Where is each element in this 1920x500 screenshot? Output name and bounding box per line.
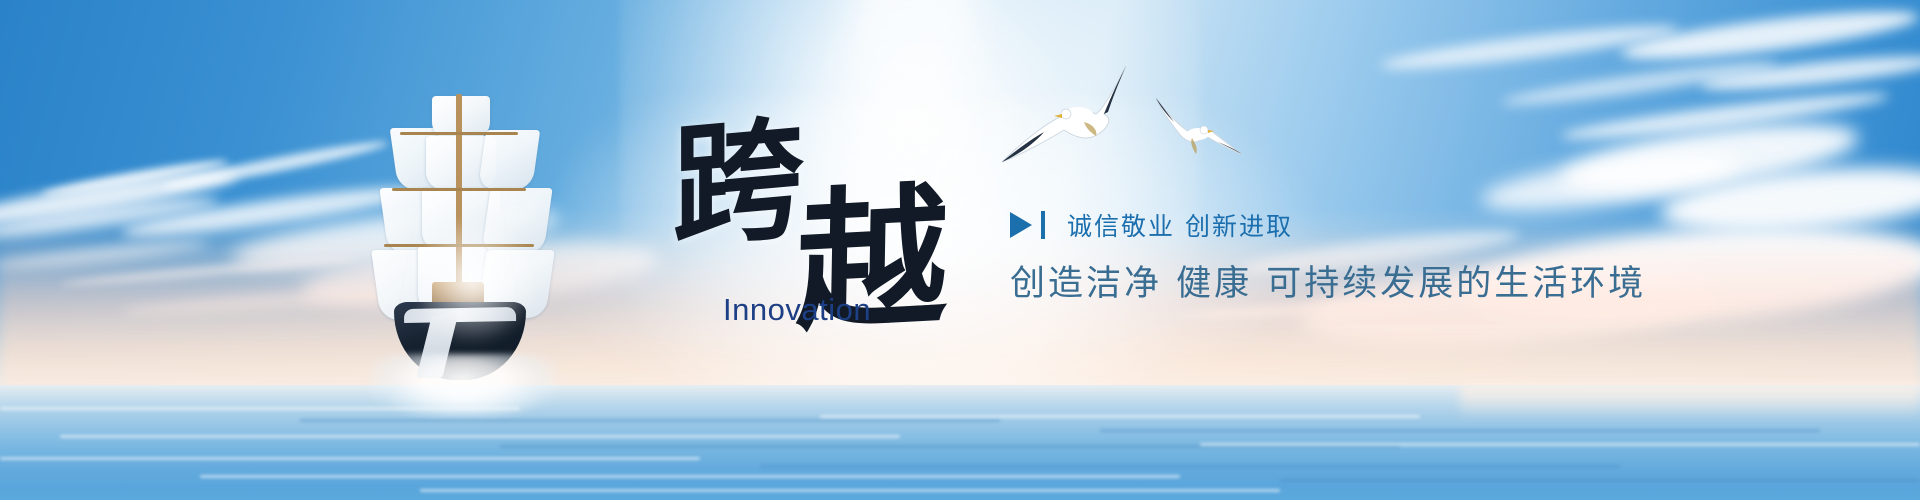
hero-banner: 跨 越 Innovation 诚信敬业 创新进取 创造洁净 健康 可持续发展的生…	[0, 0, 1920, 500]
slogan-line-1: 诚信敬业 创新进取	[1067, 207, 1293, 243]
slogan-row-primary: 诚信敬业 创新进取	[1010, 205, 1630, 245]
vertical-bar-divider	[1041, 211, 1045, 239]
calligraphy-char-kua: 跨	[672, 112, 803, 256]
ship-wake-reflection	[388, 384, 540, 418]
play-triangle-icon	[1010, 212, 1032, 238]
sailing-ship	[370, 92, 550, 392]
slogan-line-2: 创造洁净 健康 可持续发展的生活环境	[1010, 255, 1630, 306]
innovation-subtitle: Innovation	[723, 292, 871, 328]
calligraphy-headline: 跨 越	[672, 118, 1022, 368]
ship-sun-flare	[422, 222, 542, 342]
sea-warm-reflection	[1460, 385, 1920, 419]
seagull-icon	[1152, 82, 1246, 160]
slogan-block: 诚信敬业 创新进取 创造洁净 健康 可持续发展的生活环境	[1010, 205, 1630, 306]
